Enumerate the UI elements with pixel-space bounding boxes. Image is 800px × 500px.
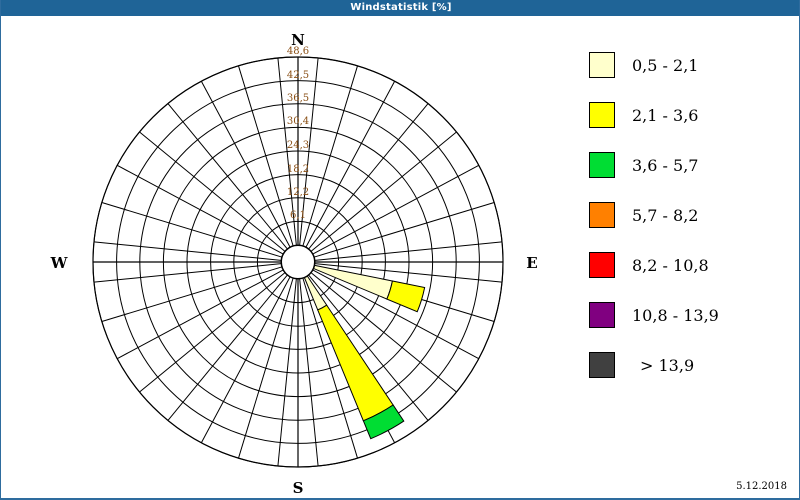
legend-swatch bbox=[589, 202, 615, 228]
windrose-canvas bbox=[1, 16, 571, 498]
legend-swatch bbox=[589, 252, 615, 278]
legend-item-label: 8,2 - 10,8 bbox=[632, 256, 709, 275]
legend-item: 5,7 - 8,2 bbox=[589, 190, 789, 240]
windrose-plot bbox=[1, 16, 571, 498]
legend-item: 2,1 - 3,6 bbox=[589, 90, 789, 140]
radial-tick-label: 24,3 bbox=[278, 140, 318, 151]
legend-item-label: 0,5 - 2,1 bbox=[632, 56, 698, 75]
legend-item-label: 10,8 - 13,9 bbox=[632, 306, 719, 325]
date-stamp: 5.12.2018 bbox=[736, 481, 787, 492]
legend-item-label: > 13,9 bbox=[640, 356, 694, 375]
legend: 0,5 - 2,12,1 - 3,63,6 - 5,75,7 - 8,28,2 … bbox=[589, 40, 789, 390]
legend-item: 8,2 - 10,8 bbox=[589, 240, 789, 290]
legend-swatch bbox=[589, 152, 615, 178]
compass-label-west: W bbox=[39, 254, 79, 272]
radial-tick-label: 6,1 bbox=[278, 210, 318, 221]
legend-swatch bbox=[589, 302, 615, 328]
wind-statistics-window: Windstatistik [%] N E S W 6,112,218,224,… bbox=[0, 0, 800, 500]
rose-center-hole bbox=[282, 246, 315, 279]
compass-label-east: E bbox=[512, 254, 552, 272]
legend-item: 10,8 - 13,9 bbox=[589, 290, 789, 340]
legend-item: > 13,9 bbox=[589, 340, 789, 390]
legend-swatch bbox=[589, 352, 615, 378]
legend-item-label: 5,7 - 8,2 bbox=[632, 206, 698, 225]
radial-tick-label: 12,2 bbox=[278, 187, 318, 198]
legend-item-label: 2,1 - 3,6 bbox=[632, 106, 698, 125]
legend-item: 0,5 - 2,1 bbox=[589, 40, 789, 90]
compass-label-south: S bbox=[278, 479, 318, 497]
radial-tick-label: 36,5 bbox=[278, 93, 318, 104]
legend-item-label: 3,6 - 5,7 bbox=[632, 156, 698, 175]
legend-swatch bbox=[589, 102, 615, 128]
radial-tick-label: 48,6 bbox=[278, 46, 318, 57]
radial-tick-label: 30,4 bbox=[278, 116, 318, 127]
legend-swatch bbox=[589, 52, 615, 78]
radial-tick-label: 42,5 bbox=[278, 70, 318, 81]
legend-item: 3,6 - 5,7 bbox=[589, 140, 789, 190]
window-title-bar: Windstatistik [%] bbox=[1, 0, 800, 16]
radial-tick-label: 18,2 bbox=[278, 164, 318, 175]
